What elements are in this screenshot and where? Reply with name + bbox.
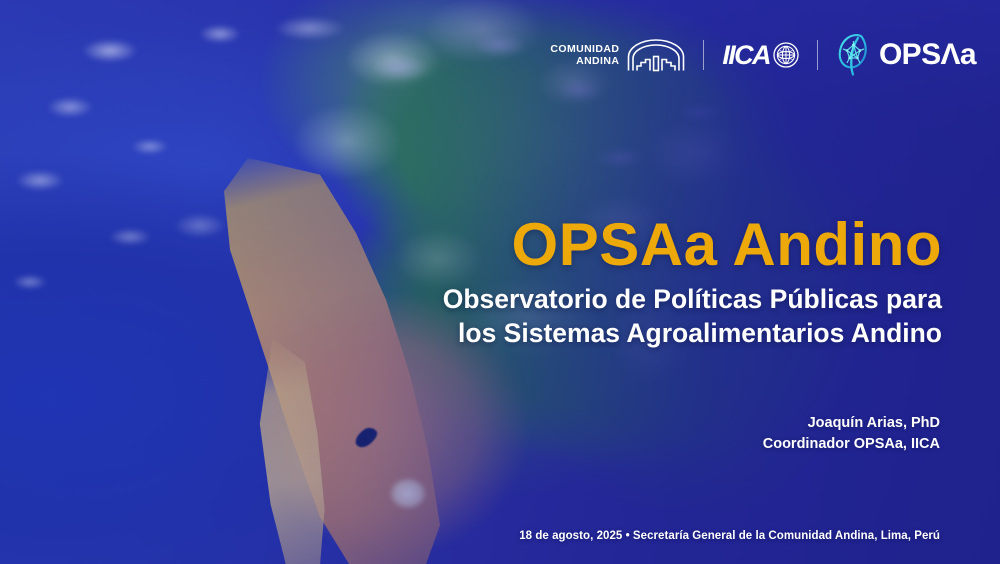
author-role: Coordinador OPSAa, IICA bbox=[763, 434, 940, 455]
comunidad-andina-line2: ANDINA bbox=[550, 55, 619, 68]
slide-content: COMUNIDAD ANDINA IICA bbox=[0, 0, 1000, 564]
subtitle-line-1: Observatorio de Políticas Públicas para bbox=[443, 284, 942, 314]
iica-wordmark: IICA bbox=[722, 42, 770, 69]
comunidad-andina-line1: COMUNIDAD bbox=[550, 43, 619, 56]
title-slide: COMUNIDAD ANDINA IICA bbox=[0, 0, 1000, 564]
author-block: Joaquín Arias, PhD Coordinador OPSAa, II… bbox=[763, 413, 940, 454]
opsaa-wordmark: OPSΛa bbox=[879, 40, 976, 70]
logo-divider-1 bbox=[703, 40, 704, 70]
footer-event-line: 18 de agosto, 2025 • Secretaría General … bbox=[519, 530, 940, 542]
logo-iica: IICA bbox=[722, 42, 799, 69]
comunidad-andina-wordmark: COMUNIDAD ANDINA bbox=[550, 43, 619, 68]
title-block: OPSAa Andino Observatorio de Políticas P… bbox=[302, 214, 942, 351]
logo-bar: COMUNIDAD ANDINA IICA bbox=[550, 33, 976, 77]
stepped-arch-icon bbox=[627, 39, 685, 72]
logo-divider-2 bbox=[817, 40, 818, 70]
author-name: Joaquín Arias, PhD bbox=[763, 413, 940, 434]
subtitle-line-2: los Sistemas Agroalimentarios Andino bbox=[458, 318, 942, 348]
globe-icon bbox=[773, 42, 799, 68]
page-title: OPSAa Andino bbox=[302, 214, 942, 275]
leaf-icon bbox=[836, 33, 870, 77]
logo-opsaa: OPSΛa bbox=[836, 33, 976, 77]
logo-comunidad-andina: COMUNIDAD ANDINA bbox=[550, 39, 685, 72]
page-subtitle: Observatorio de Políticas Públicas para … bbox=[302, 283, 942, 351]
